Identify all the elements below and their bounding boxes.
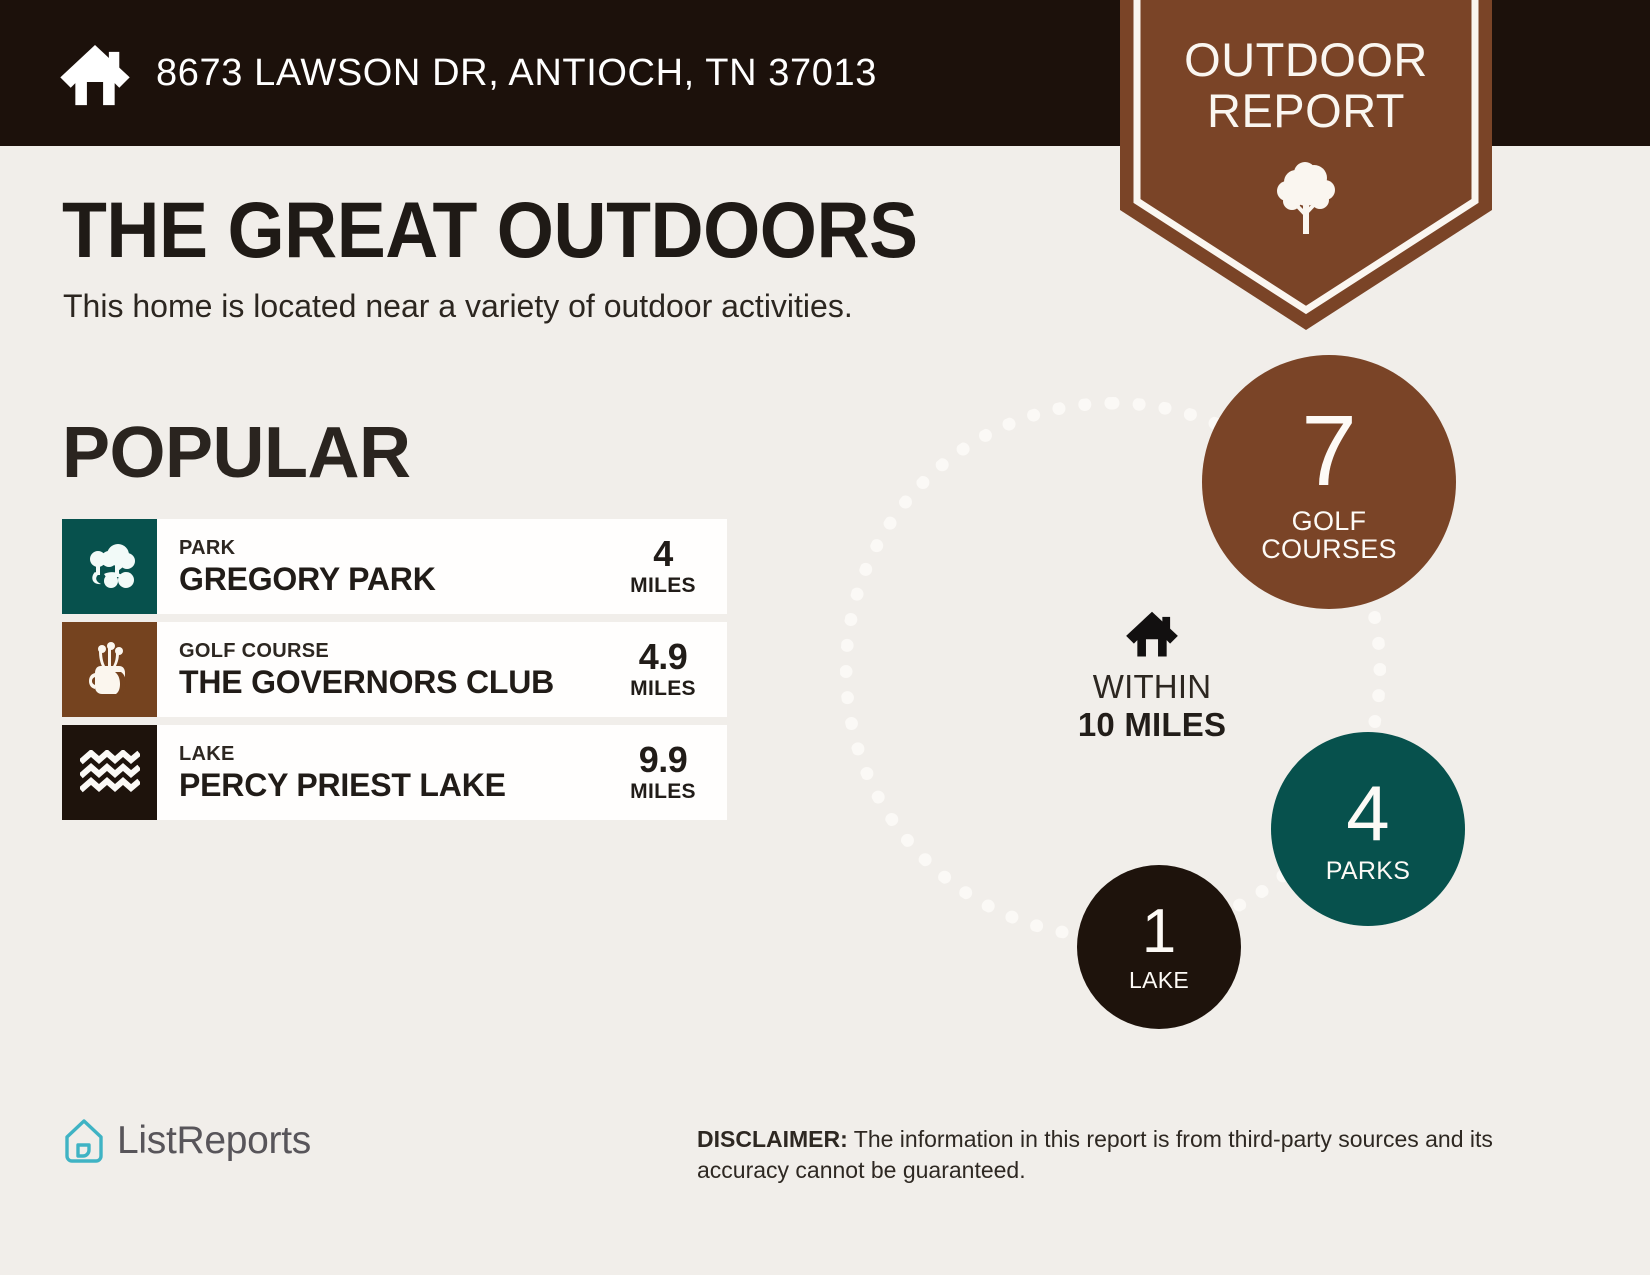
distance-value: 9.9 (639, 741, 688, 779)
property-address: 8673 LAWSON DR, ANTIOCH, TN 37013 (156, 52, 877, 95)
water-waves-icon (62, 725, 157, 820)
list-item[interactable]: LAKE PERCY PRIEST LAKE 9.9 MILES (62, 725, 727, 820)
hub-label-line1: WITHIN (1042, 668, 1262, 706)
stat-label: PARKS (1326, 858, 1410, 884)
distance-unit: MILES (630, 573, 696, 598)
stat-label: LAKE (1129, 969, 1189, 993)
disclaimer: DISCLAIMER: The information in this repo… (697, 1124, 1509, 1186)
list-item-name: THE GOVERNORS CLUB (179, 663, 617, 701)
page-title: THE GREAT OUTDOORS (62, 187, 918, 273)
stat-golf-courses[interactable]: 7 GOLF COURSES (1202, 355, 1456, 609)
stat-label: GOLF COURSES (1261, 507, 1397, 563)
listreports-wordmark: ListReports (117, 1118, 311, 1164)
diagram-hub: WITHIN 10 MILES (1042, 610, 1262, 744)
list-item-category: PARK (179, 536, 617, 560)
list-item[interactable]: PARK GREGORY PARK 4 MILES (62, 519, 727, 614)
listreports-logo: ListReports (63, 1118, 311, 1164)
stat-lake[interactable]: 1 LAKE (1077, 865, 1241, 1029)
home-icon (1124, 610, 1180, 660)
list-item-distance: 9.9 MILES (617, 725, 727, 820)
page-subtitle: This home is located near a variety of o… (63, 285, 853, 327)
list-item[interactable]: GOLF COURSE THE GOVERNORS CLUB 4.9 MILES (62, 622, 727, 717)
distance-unit: MILES (630, 779, 696, 804)
list-item-text: PARK GREGORY PARK (157, 519, 617, 614)
list-item-category: GOLF COURSE (179, 639, 617, 663)
listreports-house-icon (63, 1118, 105, 1164)
stat-label-line2: COURSES (1261, 535, 1397, 563)
tree-icon (1274, 160, 1338, 236)
distance-value: 4.9 (639, 638, 688, 676)
stat-count: 1 (1142, 901, 1176, 963)
list-item-name: GREGORY PARK (179, 560, 617, 598)
stat-parks[interactable]: 4 PARKS (1271, 732, 1465, 926)
golf-bag-icon (62, 622, 157, 717)
list-item-distance: 4.9 MILES (617, 622, 727, 717)
disclaimer-label: DISCLAIMER: (697, 1126, 848, 1152)
stat-count: 4 (1346, 774, 1389, 852)
proximity-diagram: WITHIN 10 MILES 7 GOLF COURSES 4 PARKS 1… (830, 345, 1510, 1065)
park-trees-icon (62, 519, 157, 614)
hub-label-line2: 10 MILES (1042, 706, 1262, 744)
section-heading-popular: POPULAR (62, 412, 411, 494)
popular-list: PARK GREGORY PARK 4 MILES (62, 519, 727, 828)
list-item-category: LAKE (179, 742, 617, 766)
list-item-text: LAKE PERCY PRIEST LAKE (157, 725, 617, 820)
list-item-distance: 4 MILES (617, 519, 727, 614)
home-icon (58, 38, 132, 112)
list-item-text: GOLF COURSE THE GOVERNORS CLUB (157, 622, 617, 717)
distance-unit: MILES (630, 676, 696, 701)
distance-value: 4 (653, 535, 673, 573)
stat-count: 7 (1301, 401, 1357, 501)
stat-label-line1: GOLF (1261, 507, 1397, 535)
list-item-name: PERCY PRIEST LAKE (179, 766, 617, 804)
outdoor-report-badge: OUTDOOR REPORT (1120, 0, 1492, 330)
